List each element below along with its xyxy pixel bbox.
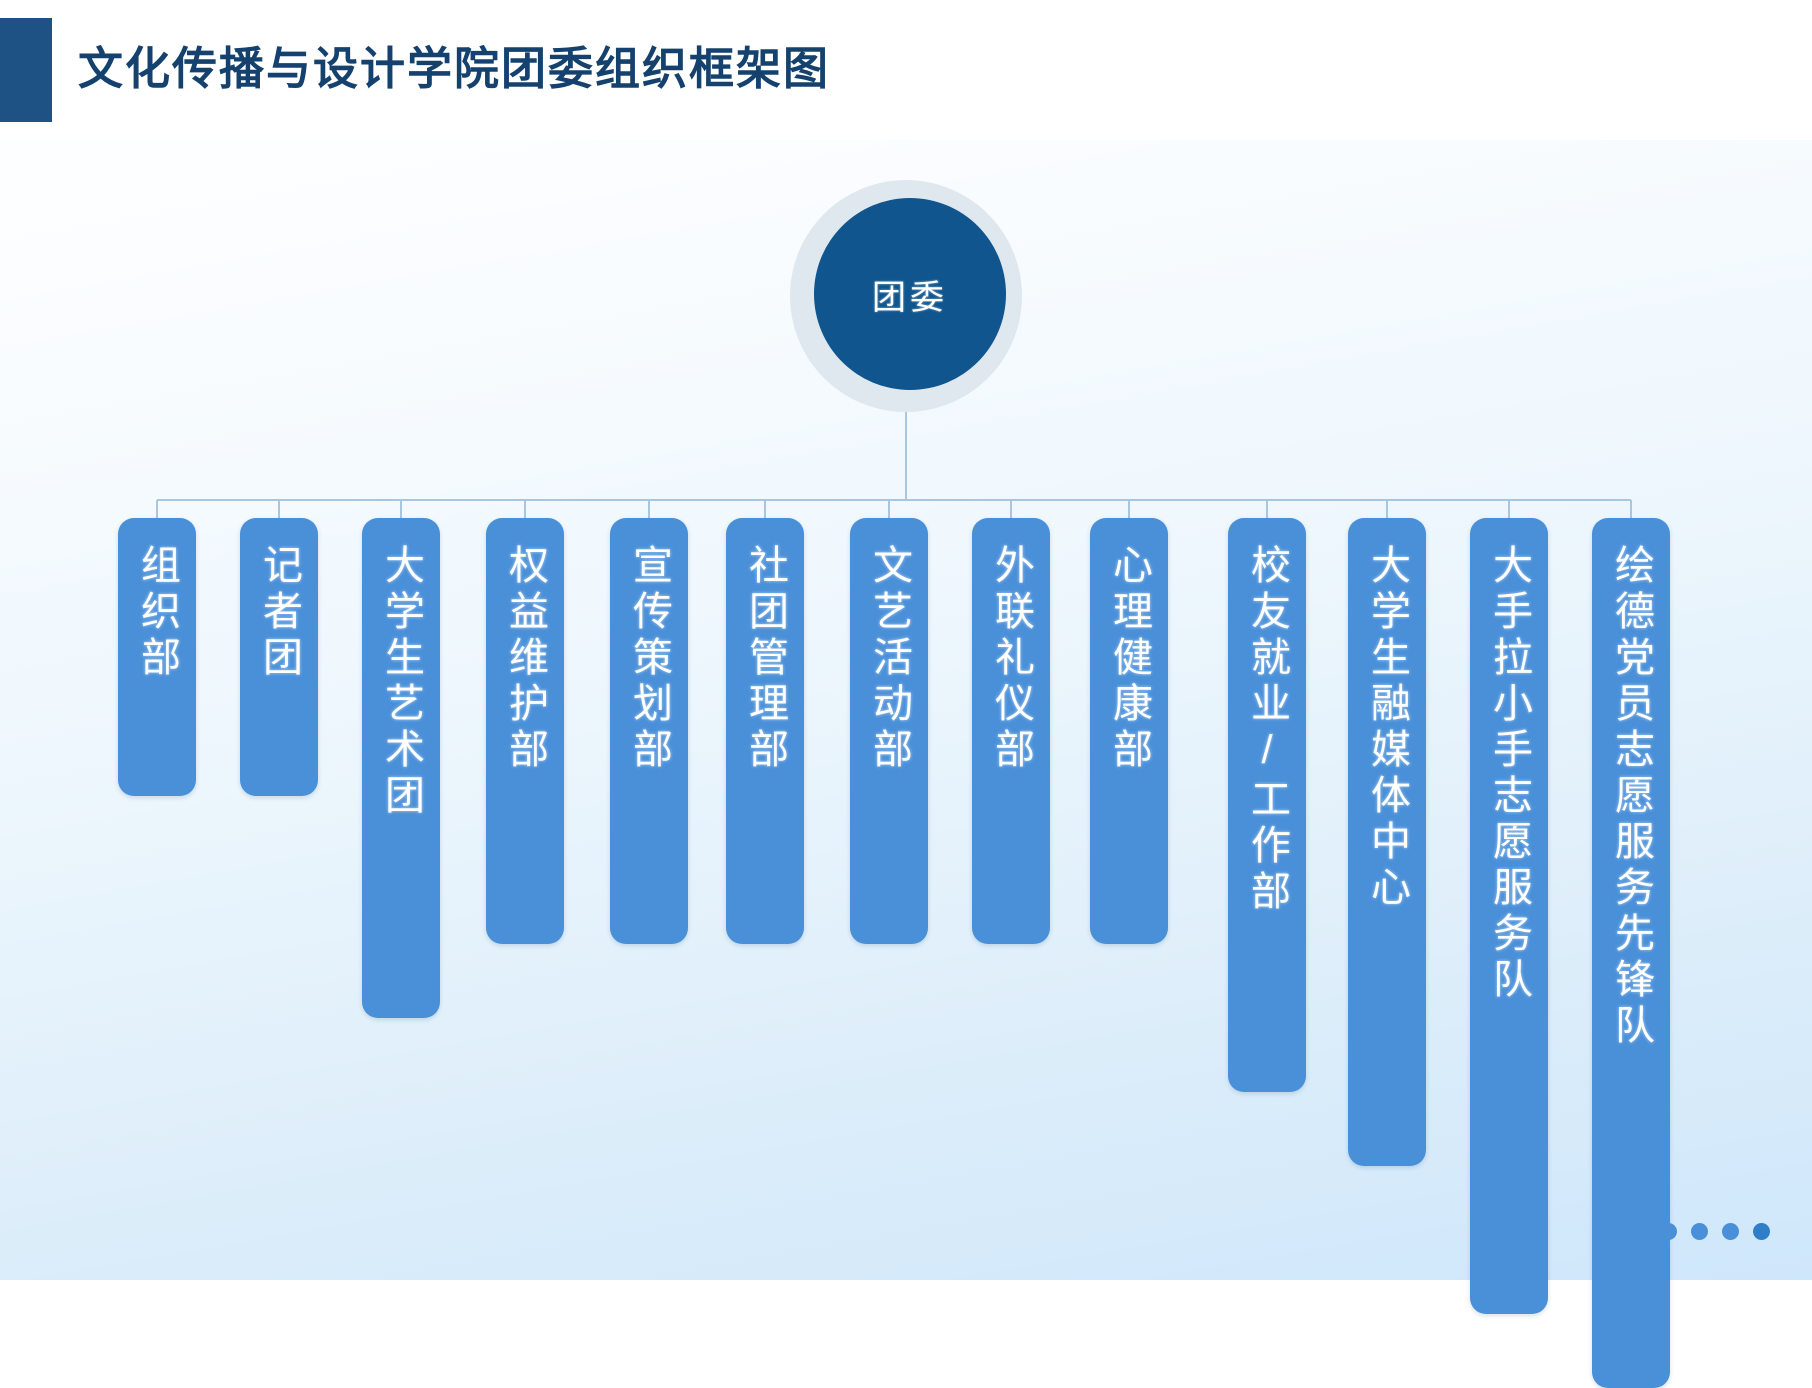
- pager-dot[interactable]: [1691, 1223, 1708, 1240]
- org-node-label: 校友就业/工作部: [1230, 518, 1304, 916]
- org-node[interactable]: 大手拉小手志愿服务队: [1470, 518, 1548, 1314]
- slide-canvas: 文化传播与设计学院团委组织框架图 团委 组织部记者团大学生艺术团权益维护部宣传策…: [0, 0, 1812, 1280]
- org-node[interactable]: 校友就业/工作部: [1228, 518, 1306, 1092]
- org-node[interactable]: 心理健康部: [1090, 518, 1168, 944]
- pager-dots[interactable]: [1660, 1223, 1770, 1240]
- org-node-label: 绘德党员志愿服务先锋队: [1594, 518, 1668, 1050]
- org-node-label: 宣传策划部: [612, 518, 686, 774]
- org-node[interactable]: 社团管理部: [726, 518, 804, 944]
- org-node[interactable]: 组织部: [118, 518, 196, 796]
- pager-dot[interactable]: [1722, 1223, 1739, 1240]
- org-node-label: 外联礼仪部: [974, 518, 1048, 774]
- org-node-label: 社团管理部: [728, 518, 802, 774]
- org-node-label: 组织部: [120, 518, 194, 682]
- org-node[interactable]: 外联礼仪部: [972, 518, 1050, 944]
- org-node[interactable]: 绘德党员志愿服务先锋队: [1592, 518, 1670, 1388]
- org-node[interactable]: 记者团: [240, 518, 318, 796]
- org-node[interactable]: 宣传策划部: [610, 518, 688, 944]
- org-node-label: 大手拉小手志愿服务队: [1472, 518, 1546, 1004]
- org-node[interactable]: 权益维护部: [486, 518, 564, 944]
- org-node-label: 权益维护部: [488, 518, 562, 774]
- org-node-label: 心理健康部: [1092, 518, 1166, 774]
- org-node[interactable]: 大学生融媒体中心: [1348, 518, 1426, 1166]
- org-node-label: 文艺活动部: [852, 518, 926, 774]
- child-node-group: 组织部记者团大学生艺术团权益维护部宣传策划部社团管理部文艺活动部外联礼仪部心理健…: [0, 0, 1812, 1280]
- org-node[interactable]: 文艺活动部: [850, 518, 928, 944]
- pager-dot[interactable]: [1660, 1223, 1677, 1240]
- pager-dot[interactable]: [1753, 1223, 1770, 1240]
- org-node-label: 大学生艺术团: [364, 518, 438, 820]
- org-node-label: 记者团: [242, 518, 316, 682]
- org-node-label: 大学生融媒体中心: [1350, 518, 1424, 912]
- org-node[interactable]: 大学生艺术团: [362, 518, 440, 1018]
